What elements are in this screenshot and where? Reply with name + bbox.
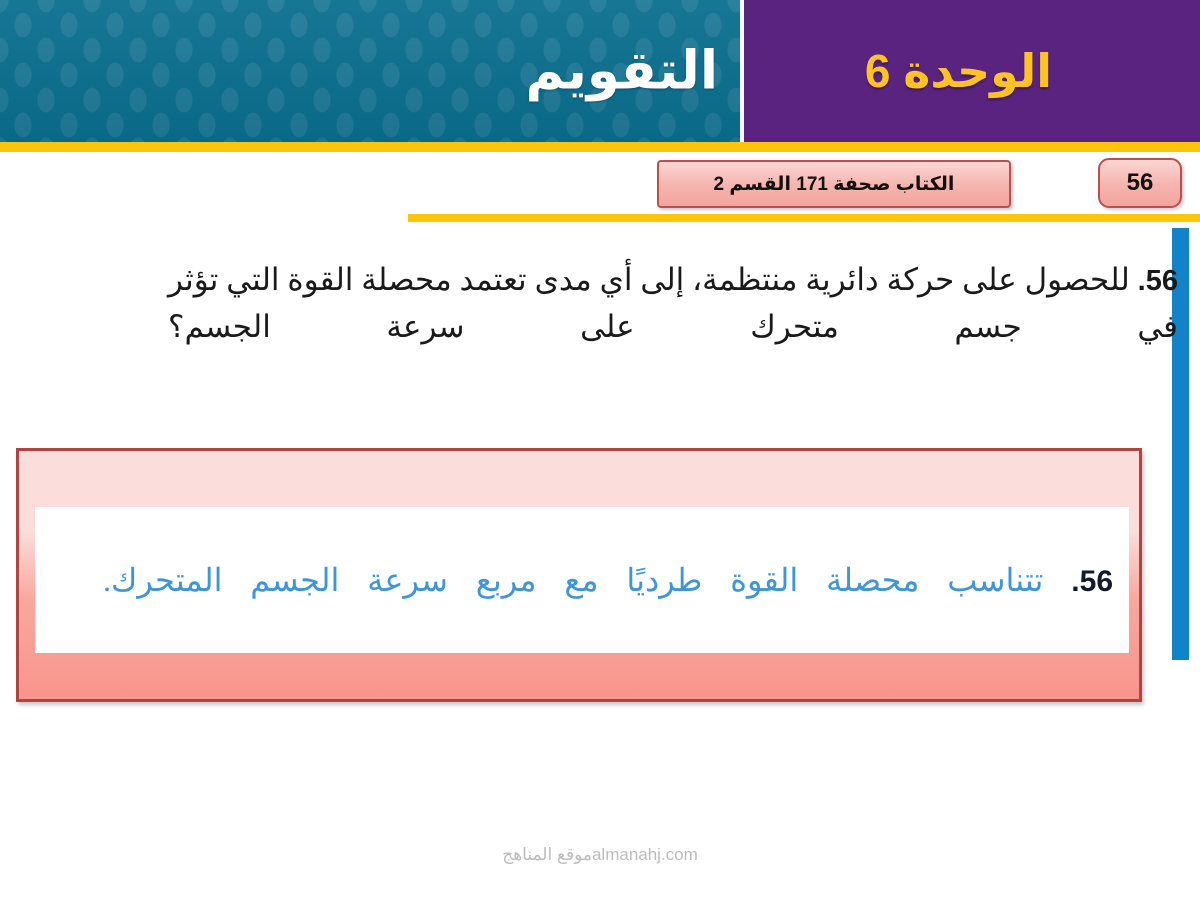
content-yellow-rule (408, 214, 1200, 222)
answer-text-wrap: 56. تتناسب محصلة القوة طرديًا مع مربع سر… (91, 556, 1129, 604)
question-text: للحصول على حركة دائرية منتظمة، إلى أي مد… (168, 262, 1178, 344)
answer-number: 56. (1071, 565, 1113, 598)
question-number-badge: 56 (1098, 158, 1182, 208)
question-block: 56. للحصول على حركة دائرية منتظمة، إلى أ… (168, 256, 1178, 350)
header-teal-panel: التقويم (0, 0, 740, 142)
footer-arabic-label: موقع المناهج (502, 845, 592, 864)
header-yellow-rule (0, 142, 1200, 152)
book-reference-chip: الكتاب صحفة 171 القسم 2 (657, 160, 1011, 208)
answer-text: تتناسب محصلة القوة طرديًا مع مربع سرعة ا… (103, 562, 1043, 598)
footer-watermark: موقع المناهجalmanahj.com (0, 845, 1200, 865)
book-reference-label: الكتاب صحفة 171 القسم 2 (714, 173, 955, 196)
header-band: التقويم الوحدة 6 (0, 0, 1200, 142)
footer-site-label: almanahj.com (592, 845, 698, 864)
question-number: 56. (1138, 265, 1178, 297)
page-title: التقويم (525, 41, 718, 102)
header-purple-panel: الوحدة 6 (744, 0, 1200, 142)
unit-label: الوحدة 6 (865, 44, 1052, 98)
slide-canvas: التقويم الوحدة 6 الكتاب صحفة 171 القسم 2… (0, 0, 1200, 900)
question-number-badge-label: 56 (1127, 169, 1154, 197)
answer-box: 56. تتناسب محصلة القوة طرديًا مع مربع سر… (16, 448, 1142, 702)
answer-inner-panel: 56. تتناسب محصلة القوة طرديًا مع مربع سر… (35, 507, 1129, 653)
